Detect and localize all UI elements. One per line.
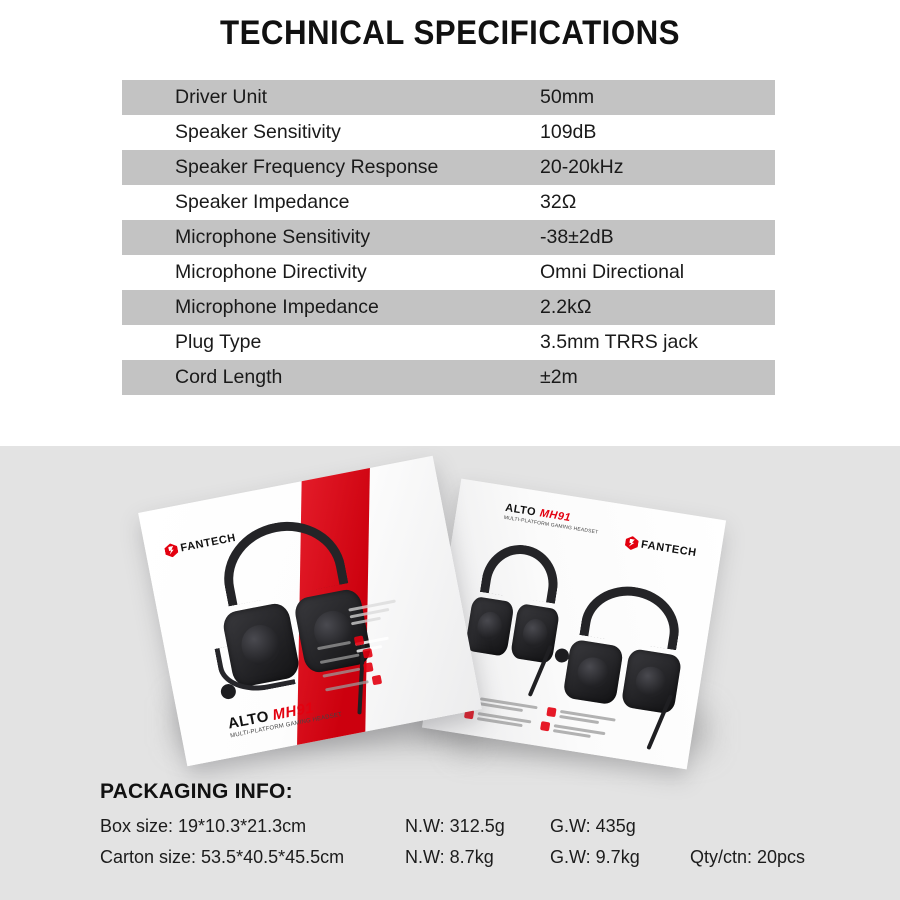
bullet-badge-icon: [372, 675, 383, 686]
spec-label: Plug Type: [122, 331, 540, 354]
earcup-icon: [465, 596, 515, 657]
carton-gross-weight: G.W: 9.7kg: [550, 847, 690, 868]
headband-icon: [215, 512, 348, 606]
headband-icon: [580, 580, 685, 651]
earcup-icon: [620, 648, 682, 715]
spec-value: ±2m: [540, 366, 775, 389]
box-net-weight: N.W: 312.5g: [405, 816, 550, 837]
spec-value: 2.2kΩ: [540, 296, 775, 319]
spec-value: 32Ω: [540, 191, 775, 214]
spec-value: -38±2dB: [540, 226, 775, 249]
packaging-info-row: Carton size: 53.5*40.5*45.5cm N.W: 8.7kg…: [100, 847, 860, 868]
spec-value: 20-20kHz: [540, 156, 775, 179]
specifications-table: Driver Unit 50mm Speaker Sensitivity 109…: [122, 80, 775, 395]
carton-quantity: Qty/ctn: 20pcs: [690, 847, 805, 868]
bullet-badge-icon: [546, 707, 556, 717]
spec-label: Cord Length: [122, 366, 540, 389]
fantech-mark-icon: [624, 535, 639, 551]
box-face: ALTO MH91 MULTI-PLATFORM GAMING HEADSET …: [422, 479, 726, 770]
spec-value: Omni Directional: [540, 261, 775, 284]
packaging-photo: ALTO MH91 MULTI-PLATFORM GAMING HEADSET …: [0, 446, 900, 776]
bullet-badge-icon: [354, 635, 365, 646]
spec-label: Microphone Directivity: [122, 261, 540, 284]
fantech-mark-icon: [164, 542, 179, 558]
packaging-info-row: Box size: 19*10.3*21.3cm N.W: 312.5g G.W…: [100, 816, 860, 837]
table-row: Speaker Sensitivity 109dB: [122, 115, 775, 150]
spec-value: 3.5mm TRRS jack: [540, 331, 775, 354]
spec-label: Speaker Impedance: [122, 191, 540, 214]
table-row: Microphone Sensitivity -38±2dB: [122, 220, 775, 255]
bullet-badge-icon: [362, 648, 373, 659]
headband-icon: [480, 540, 563, 604]
box-gross-weight: G.W: 435g: [550, 816, 690, 837]
feature-bullet: [540, 721, 606, 740]
spec-label: Speaker Sensitivity: [122, 121, 540, 144]
spec-label: Microphone Impedance: [122, 296, 540, 319]
packaging-info-heading: PACKAGING INFO:: [100, 780, 860, 804]
spec-value: 109dB: [540, 121, 775, 144]
table-row: Speaker Impedance 32Ω: [122, 185, 775, 220]
bullet-badge-icon: [363, 662, 374, 673]
box-size: Box size: 19*10.3*21.3cm: [100, 816, 405, 837]
earcup-icon: [562, 639, 624, 706]
table-row: Microphone Directivity Omni Directional: [122, 255, 775, 290]
table-row: Speaker Frequency Response 20-20kHz: [122, 150, 775, 185]
spec-label: Speaker Frequency Response: [122, 156, 540, 179]
product-box-back: ALTO MH91 MULTI-PLATFORM GAMING HEADSET …: [422, 479, 726, 770]
table-row: Driver Unit 50mm: [122, 80, 775, 115]
brand-name: FANTECH: [640, 539, 697, 560]
bullet-badge-icon: [540, 721, 550, 731]
packaging-info-block: PACKAGING INFO: Box size: 19*10.3*21.3cm…: [100, 780, 860, 878]
table-row: Microphone Impedance 2.2kΩ: [122, 290, 775, 325]
carton-size: Carton size: 53.5*40.5*45.5cm: [100, 847, 405, 868]
spec-label: Microphone Sensitivity: [122, 226, 540, 249]
page-title: TECHNICAL SPECIFICATIONS: [36, 14, 864, 53]
product-name-lockup: ALTO MH91 MULTI-PLATFORM GAMING HEADSET: [503, 502, 600, 536]
headset-illustration-main: [553, 577, 699, 723]
spec-label: Driver Unit: [122, 86, 540, 109]
brand-logo: FANTECH: [624, 535, 697, 560]
carton-net-weight: N.W: 8.7kg: [405, 847, 550, 868]
feature-bullets: [316, 633, 382, 694]
spec-value: 50mm: [540, 86, 775, 109]
table-row: Plug Type 3.5mm TRRS jack: [122, 325, 775, 360]
table-row: Cord Length ±2m: [122, 360, 775, 395]
